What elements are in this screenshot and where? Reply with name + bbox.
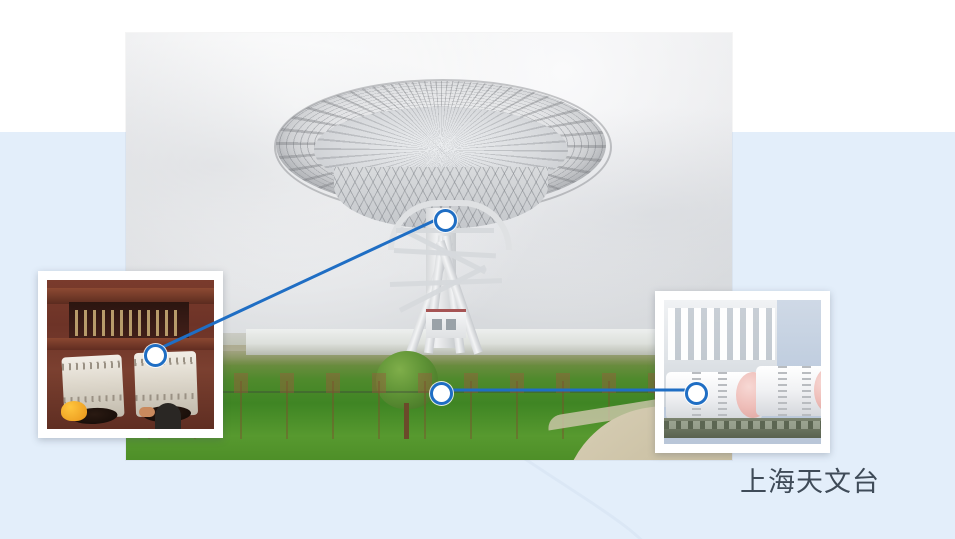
callout-marker-left-inset[interactable] [144,344,167,367]
inset-right-image [664,300,821,444]
slide-canvas: 上海天文台 [0,0,955,539]
gear-teeth [75,310,183,336]
barrel-band [718,372,727,420]
callout-marker-telescope-upper[interactable] [434,209,457,232]
barrel-band [802,366,811,416]
hard-hat [61,401,87,421]
callout-marker-telescope-lower[interactable] [430,382,453,405]
bolt-flange [62,360,122,370]
steel-beam [47,338,214,350]
barrel-band [778,366,787,416]
corroded-bearing-assembly [47,280,214,429]
inset-left-image [47,280,214,429]
worker-figure [155,403,181,429]
housing-ribs [668,308,775,360]
inset-photo-right [655,291,830,453]
inset-photo-left [38,271,223,438]
bearing-barrel [756,366,821,416]
mounting-rail [664,418,821,438]
cabin-window [432,319,442,330]
refurbished-bearing-assembly [664,300,821,444]
caption-text: 上海天文台 [740,468,880,496]
control-cabin [426,309,466,338]
callout-marker-right-inset[interactable] [685,382,708,405]
bolt-flange [135,393,197,401]
